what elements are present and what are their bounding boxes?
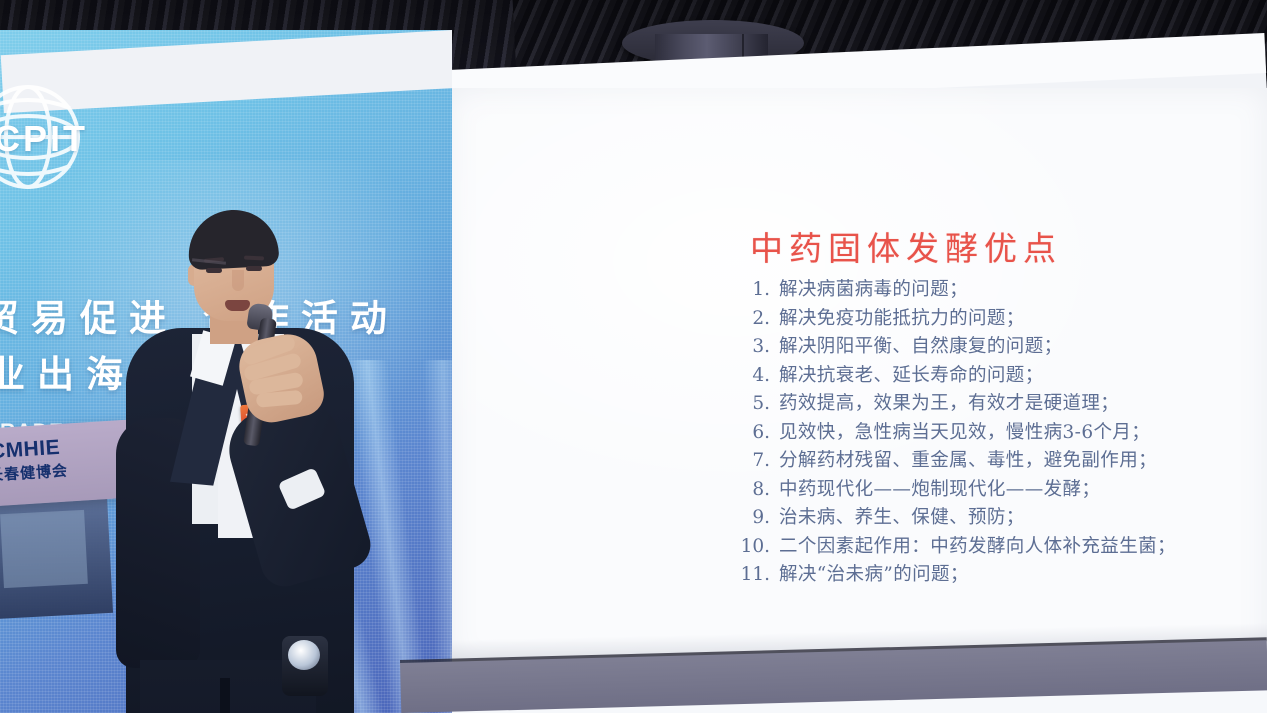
speaker-nose xyxy=(232,270,244,291)
list-item-text: 解决抗衰老、延长寿命的问题； xyxy=(770,362,1044,391)
slide-list-item: 5.药效提高，效果为王，有效才是硬道理； xyxy=(736,390,1256,419)
list-item-number: 3. xyxy=(736,333,770,362)
finger xyxy=(256,390,303,408)
screenshot-root: 中药固体发酵优点 1.解决病菌病毒的问题； 2.解决免疫功能抵抗力的问题； 3.… xyxy=(0,0,1267,713)
slide-list-item: 4.解决抗衰老、延长寿命的问题； xyxy=(736,362,1256,391)
list-item-text: 中药现代化——炮制现代化——发酵； xyxy=(770,476,1100,505)
ccpit-logo-text: CPIT xyxy=(0,118,88,160)
list-item-text: 分解药材残留、重金属、毒性，避免副作用； xyxy=(770,447,1157,476)
slide-list-item: 3.解决阴阳平衡、自然康复的问题； xyxy=(736,333,1256,362)
speaker-eye-left xyxy=(206,268,222,273)
list-item-number: 10. xyxy=(736,533,770,562)
slide-list-item: 7.分解药材残留、重金属、毒性，避免副作用； xyxy=(736,447,1256,476)
list-item-text: 见效快，急性病当天见效，慢性病3-6个月； xyxy=(770,419,1150,448)
slide-title: 中药固体发酵优点 xyxy=(750,222,1256,270)
list-item-number: 9. xyxy=(736,504,770,533)
list-item-text: 治未病、养生、保健、预防； xyxy=(770,504,1025,533)
slide-list-item: 8.中药现代化——炮制现代化——发酵； xyxy=(736,476,1256,505)
slide-list-item: 10.二个因素起作用：中药发酵向人体补充益生菌； xyxy=(736,533,1256,562)
slide-list-item: 2.解决免疫功能抵抗力的问题； xyxy=(736,305,1256,334)
list-item-number: 4. xyxy=(736,362,770,391)
list-item-number: 11. xyxy=(736,561,770,590)
slide-list-item: 6.见效快，急性病当天见效，慢性病3-6个月； xyxy=(736,419,1256,448)
list-item-number: 8. xyxy=(736,476,770,505)
slide-list-item: 9.治未病、养生、保健、预防； xyxy=(736,504,1256,533)
speaker-eye-right xyxy=(246,266,262,271)
list-item-number: 7. xyxy=(736,447,770,476)
slide-list-item: 11.解决“治未病”的问题； xyxy=(736,561,1256,590)
presentation-slide: 中药固体发酵优点 1.解决病菌病毒的问题； 2.解决免疫功能抵抗力的问题； 3.… xyxy=(736,222,1256,590)
stage-light-lens xyxy=(288,640,320,670)
list-item-text: 二个因素起作用：中药发酵向人体补充益生菌； xyxy=(770,533,1176,562)
list-item-number: 5. xyxy=(736,390,770,419)
list-item-text: 解决阴阳平衡、自然康复的问题； xyxy=(770,333,1063,362)
speaker-person xyxy=(92,208,392,713)
slide-bullet-list: 1.解决病菌病毒的问题； 2.解决免疫功能抵抗力的问题； 3.解决阴阳平衡、自然… xyxy=(736,276,1256,590)
list-item-number: 2. xyxy=(736,305,770,334)
list-item-text: 解决病菌病毒的问题； xyxy=(770,276,968,305)
list-item-text: 药效提高，效果为王，有效才是硬道理； xyxy=(770,390,1119,419)
speaker-leg-gap xyxy=(220,678,230,713)
podium-glass-panel xyxy=(0,510,88,588)
slide-list-item: 1.解决病菌病毒的问题； xyxy=(736,276,1256,305)
list-item-number: 1. xyxy=(736,276,770,305)
speaker-mouth xyxy=(225,300,250,311)
list-item-text: 解决“治未病”的问题； xyxy=(770,561,969,590)
list-item-text: 解决免疫功能抵抗力的问题； xyxy=(770,305,1025,334)
list-item-number: 6. xyxy=(736,419,770,448)
